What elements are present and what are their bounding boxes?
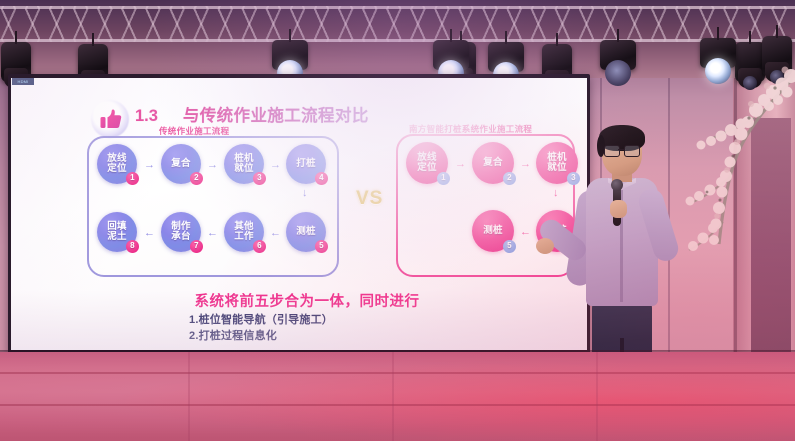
summary-headline: 系统将前五步合为一体，同时进行 [127, 290, 487, 311]
stage-light-10 [700, 38, 736, 68]
badge-left-7: 7 [190, 240, 203, 253]
vs-label: VS [356, 188, 383, 210]
badge-left-2: 2 [190, 172, 203, 185]
stage-light-4 [600, 40, 636, 70]
badge-left-3: 3 [253, 172, 266, 185]
stage-light-8 [488, 42, 524, 72]
floor-seam-3 [596, 352, 598, 441]
lighting-truss-lower [0, 28, 795, 42]
presenter-hand-pointing [536, 238, 554, 254]
node-right-1: 放线定位 1 [406, 142, 448, 184]
node-left-5: 测桩 5 [286, 212, 326, 252]
thumbs-up-icon [91, 100, 129, 138]
stage-scene: HDMI 1.3 [0, 0, 795, 441]
floor-light-glow [0, 352, 795, 441]
node-left-1: 放线定位 1 [97, 144, 137, 184]
door-edge [734, 52, 737, 352]
node-left-6: 其他工作 6 [224, 212, 264, 252]
projection-screen-frame: HDMI 1.3 [8, 74, 590, 356]
badge-right-5: 5 [503, 240, 516, 253]
summary-bullets: 1.桩位智能导航（引导施工） 2.打桩过程信息化 [189, 312, 333, 344]
node-left-3: 桩机就位 3 [224, 144, 264, 184]
stage-light-2 [272, 40, 308, 70]
arrow-right-3-4: ↓ [553, 188, 559, 199]
node-left-7: 制作承台 7 [161, 212, 201, 252]
floor-line-2 [0, 404, 795, 406]
page-title: 1.3 与传统作业施工流程对比 [135, 102, 369, 126]
floor-line-1 [0, 372, 795, 374]
arrow-right-4-5: ← [520, 227, 531, 238]
stage-light-11 [762, 36, 792, 76]
slide-title-text: 与传统作业施工流程对比 [183, 107, 369, 125]
arrow-left-5-6: ← [270, 228, 281, 239]
badge-right-2: 2 [503, 172, 516, 185]
arrow-left-4-5: ↓ [302, 188, 308, 199]
stage-light-7 [433, 40, 469, 70]
badge-left-5: 5 [315, 240, 328, 253]
presenter-hand-mic [610, 200, 627, 218]
badge-left-8: 8 [126, 240, 139, 253]
arrow-left-6-7: ← [207, 228, 218, 239]
arrow-left-2-3: → [207, 160, 218, 171]
stage-light-5 [735, 42, 765, 82]
badge-left-1: 1 [126, 172, 139, 185]
node-left-2: 复合 2 [161, 144, 201, 184]
projection-screen: HDMI 1.3 [11, 78, 587, 350]
eyeglasses-icon [604, 145, 640, 155]
arrow-left-3-4: → [270, 160, 281, 171]
bullet-item-2: 2.打桩过程信息化 [189, 328, 333, 344]
node-right-5: 测桩 5 [472, 210, 514, 252]
arrow-right-1-2: → [455, 159, 466, 170]
arrow-right-2-3: → [520, 159, 531, 170]
badge-left-6: 6 [253, 240, 266, 253]
slide-content: 1.3 与传统作业施工流程对比 传统作业施工流程 放线定位 1 → 复合 2 → [11, 78, 587, 350]
floor-seam-1 [188, 352, 190, 441]
arrow-left-1-2: → [144, 160, 155, 171]
badge-right-1: 1 [437, 172, 450, 185]
floor-seam-2 [392, 352, 394, 441]
node-left-8: 回填泥土 8 [97, 212, 137, 252]
arrow-left-7-8: ← [144, 228, 155, 239]
bullet-item-1: 1.桩位智能导航（引导施工） [189, 312, 333, 328]
node-left-4: 打桩 4 [286, 144, 326, 184]
slide-title-number: 1.3 [135, 107, 158, 125]
badge-left-4: 4 [315, 172, 328, 185]
door-recess [751, 118, 791, 352]
node-right-2: 复合 2 [472, 142, 514, 184]
